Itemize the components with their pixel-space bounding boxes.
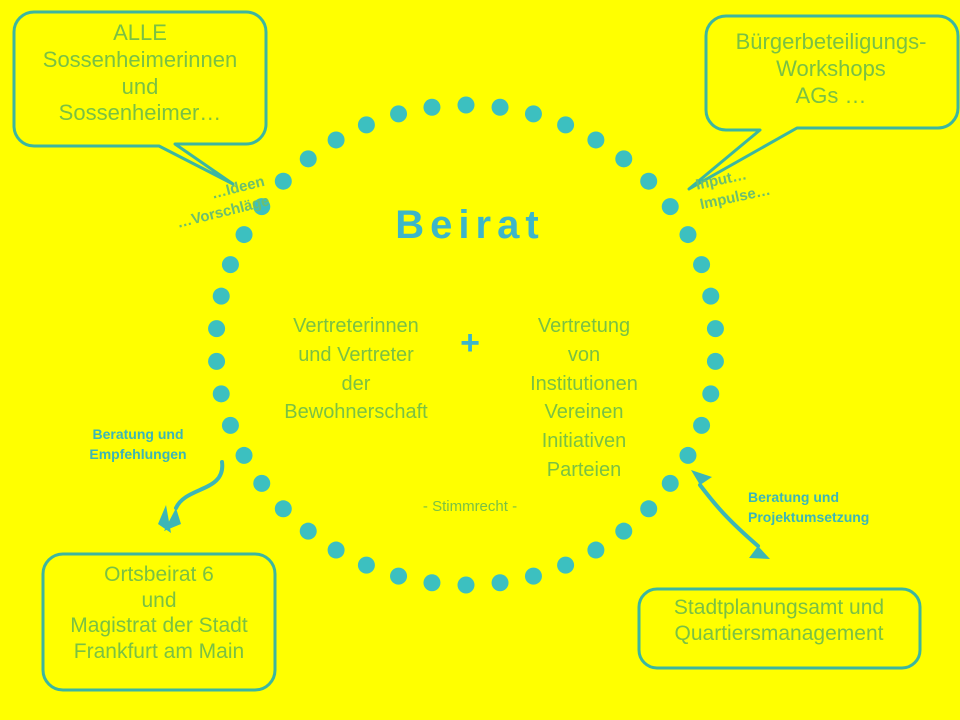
- center-footnote: - Stimmrecht -: [350, 498, 590, 515]
- circle-dot: [328, 131, 345, 148]
- circle-dot: [525, 105, 542, 122]
- circle-dot: [236, 447, 253, 464]
- circle-dot: [679, 226, 696, 243]
- circle-dot: [358, 557, 375, 574]
- circle-dot: [557, 557, 574, 574]
- circle-dot: [707, 320, 724, 337]
- circle-dot: [213, 385, 230, 402]
- circle-dot: [707, 353, 724, 370]
- circle-dot: [275, 173, 292, 190]
- circle-dot: [702, 288, 719, 305]
- circle-dot: [693, 417, 710, 434]
- circle-dot: [615, 150, 632, 167]
- circle-dot: [222, 256, 239, 273]
- circle-dot: [222, 417, 239, 434]
- circle-dot: [587, 542, 604, 559]
- circle-dot: [253, 475, 270, 492]
- bubble-top-left-label: ALLE Sossenheimerinnen und Sossenheimer…: [18, 20, 262, 127]
- circle-dot: [458, 97, 475, 114]
- circle-dot: [458, 577, 475, 594]
- circle-dot: [640, 500, 657, 517]
- circle-dot: [390, 105, 407, 122]
- circle-dot: [208, 320, 225, 337]
- circle-dot: [557, 116, 574, 133]
- circle-dot: [492, 99, 509, 116]
- circle-dot: [300, 150, 317, 167]
- circle-dot: [423, 574, 440, 591]
- circle-dot: [213, 288, 230, 305]
- circle-dot: [662, 198, 679, 215]
- circle-dot: [492, 574, 509, 591]
- center-title: Beirat: [300, 203, 640, 248]
- circle-dot: [208, 353, 225, 370]
- circle-dot: [423, 99, 440, 116]
- circle-dot: [390, 568, 407, 585]
- center-left-column: Vertreterinnen und Vertreter der Bewohne…: [262, 312, 450, 427]
- circle-dot: [702, 385, 719, 402]
- circle-dot: [358, 116, 375, 133]
- arrow-right-label: Beratung und Projektumsetzung: [748, 488, 918, 528]
- box-bottom-left-label: Ortsbeirat 6 und Magistrat der Stadt Fra…: [46, 562, 272, 664]
- arrow-left-label: Beratung und Empfehlungen: [63, 425, 213, 465]
- circle-dot: [679, 447, 696, 464]
- diagram-canvas: ALLE Sossenheimerinnen und Sossenheimer……: [0, 0, 960, 720]
- circle-dot: [525, 568, 542, 585]
- arrow-left-curve: [158, 462, 222, 533]
- circle-dot: [587, 131, 604, 148]
- center-right-column: Vertretung von Institutionen Vereinen In…: [490, 312, 678, 485]
- circle-dot: [640, 173, 657, 190]
- box-bottom-right-label: Stadtplanungsamt und Quartiersmanagement: [642, 595, 916, 646]
- bubble-top-right-label: Bürgerbeteiligungs- Workshops AGs …: [714, 29, 948, 109]
- circle-dot: [300, 523, 317, 540]
- circle-dot: [328, 542, 345, 559]
- circle-dot: [693, 256, 710, 273]
- circle-dot: [275, 500, 292, 517]
- circle-dot: [615, 523, 632, 540]
- circle-dot: [236, 226, 253, 243]
